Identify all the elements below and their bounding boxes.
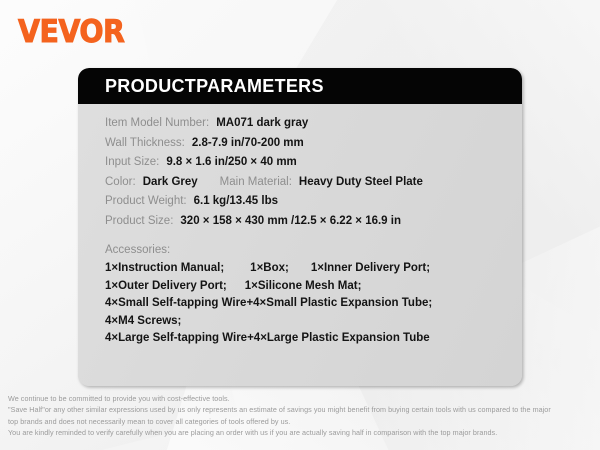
param-value-wall-thickness: 2.8-7.9 in/70-200 mm bbox=[192, 137, 304, 149]
accessories-label: Accessories: bbox=[105, 244, 170, 256]
accessories-line: 1×Instruction Manual;1×Box;1×Inner Deliv… bbox=[78, 260, 522, 278]
footer-line-3: top brands and does not necessarily mean… bbox=[8, 416, 594, 427]
footer-line-4: You are kindly reminded to verify carefu… bbox=[8, 427, 594, 438]
param-row-product-size: Product Size:320 × 158 × 430 mm /12.5 × … bbox=[78, 212, 522, 232]
card-header: PRODUCTPARAMETERS bbox=[78, 68, 522, 104]
accessories-line: 4×Small Self-tapping Wire+4×Small Plasti… bbox=[78, 295, 522, 313]
accessories-line: 1×Outer Delivery Port;1×Silicone Mesh Ma… bbox=[78, 278, 522, 296]
param-row-product-weight: Product Weight:6.1 kg/13.45 lbs bbox=[78, 192, 522, 212]
card-body: Item Model Number:MA071 dark gray Wall T… bbox=[78, 104, 522, 386]
product-parameters-card: PRODUCTPARAMETERS Item Model Number:MA07… bbox=[78, 68, 522, 386]
legal-footer: We continue to be committed to provide y… bbox=[8, 393, 594, 439]
param-value-color: Dark Grey bbox=[143, 176, 198, 188]
accessories-heading: Accessories: bbox=[78, 239, 522, 260]
param-label-model: Item Model Number: bbox=[105, 117, 209, 129]
accessories-line: 4×Large Self-tapping Wire+4×Large Plasti… bbox=[78, 330, 522, 348]
param-label-color: Color: bbox=[105, 176, 136, 188]
accessory-item: 1×Outer Delivery Port; bbox=[105, 278, 227, 296]
param-row-model: Item Model Number:MA071 dark gray bbox=[78, 114, 522, 134]
accessory-item: 1×Silicone Mesh Mat; bbox=[245, 278, 362, 296]
accessory-item: 1×Instruction Manual; bbox=[105, 260, 224, 278]
param-label-product-size: Product Size: bbox=[105, 215, 173, 227]
accessories-line: 4×M4 Screws; bbox=[78, 313, 522, 331]
param-value-input-size: 9.8 × 1.6 in/250 × 40 mm bbox=[166, 156, 296, 168]
param-label-wall-thickness: Wall Thickness: bbox=[105, 137, 185, 149]
param-row-input-size: Input Size:9.8 × 1.6 in/250 × 40 mm bbox=[78, 153, 522, 173]
footer-line-2: "Save Half"or any other similar expressi… bbox=[8, 404, 594, 415]
param-value-product-size: 320 × 158 × 430 mm /12.5 × 6.22 × 16.9 i… bbox=[180, 215, 401, 227]
param-value-main-material: Heavy Duty Steel Plate bbox=[299, 176, 423, 188]
param-value-product-weight: 6.1 kg/13.45 lbs bbox=[194, 195, 278, 207]
param-row-wall-thickness: Wall Thickness:2.8-7.9 in/70-200 mm bbox=[78, 134, 522, 154]
product-parameters-page: VEVOR PRODUCTPARAMETERS Item Model Numbe… bbox=[0, 0, 600, 450]
param-value-model: MA071 dark gray bbox=[216, 117, 308, 129]
param-row-color-material: Color:Dark GreyMain Material:Heavy Duty … bbox=[78, 173, 522, 193]
accessory-item: 4×Large Self-tapping Wire+4×Large Plasti… bbox=[105, 330, 430, 348]
accessory-item: 4×Small Self-tapping Wire+4×Small Plasti… bbox=[105, 295, 432, 313]
accessory-item: 1×Box; bbox=[250, 260, 289, 278]
accessory-item: 1×Inner Delivery Port; bbox=[311, 260, 430, 278]
param-label-input-size: Input Size: bbox=[105, 156, 159, 168]
footer-line-1: We continue to be committed to provide y… bbox=[8, 393, 594, 404]
vevor-logo: VEVOR bbox=[18, 17, 124, 48]
param-label-main-material: Main Material: bbox=[220, 176, 292, 188]
accessory-item: 4×M4 Screws; bbox=[105, 313, 181, 331]
page-title: PRODUCTPARAMETERS bbox=[105, 76, 324, 97]
param-label-product-weight: Product Weight: bbox=[105, 195, 187, 207]
